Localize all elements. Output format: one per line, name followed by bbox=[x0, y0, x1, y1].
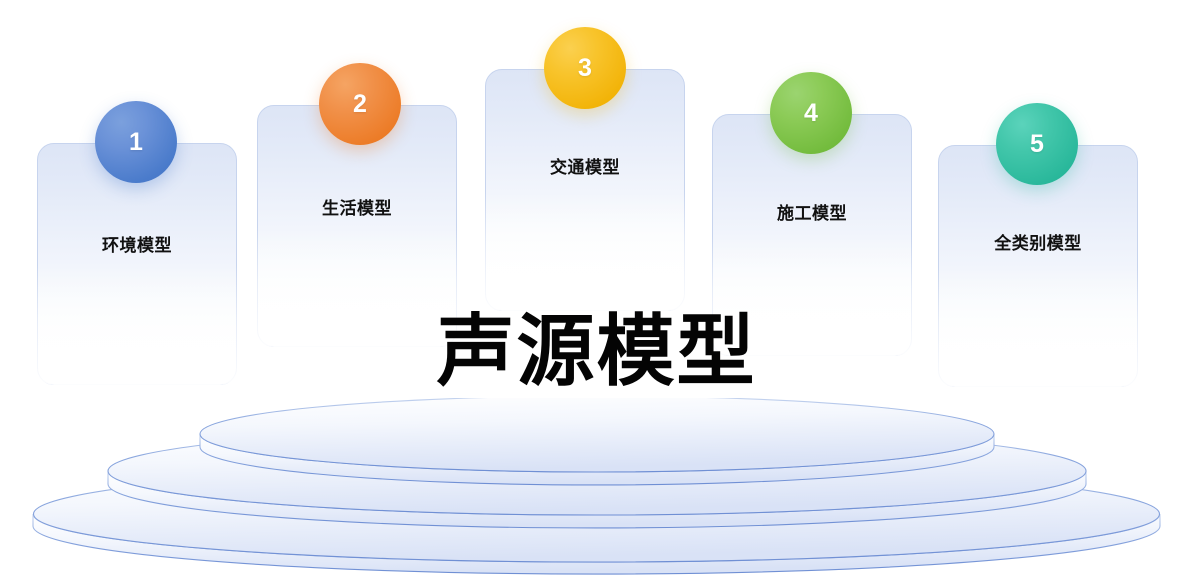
pedestal-tier-bottom bbox=[33, 466, 1160, 574]
pedestal-tier-top bbox=[200, 398, 994, 485]
card-3-label: 交通模型 bbox=[486, 153, 684, 178]
card-3-number: 3 bbox=[578, 56, 592, 81]
pedestal-graphic bbox=[0, 398, 1193, 578]
card-2-label: 生活模型 bbox=[258, 194, 456, 219]
card-3-number-badge[interactable]: 3 bbox=[544, 27, 626, 109]
card-4-label: 施工模型 bbox=[713, 199, 911, 224]
card-1-label: 环境模型 bbox=[38, 231, 236, 256]
card-5-label: 全类别模型 bbox=[939, 229, 1137, 254]
card-1-number-badge[interactable]: 1 bbox=[95, 101, 177, 183]
card-5-number: 5 bbox=[1030, 132, 1044, 157]
card-1-number: 1 bbox=[129, 130, 143, 155]
card-4-number: 4 bbox=[804, 101, 818, 126]
pedestal-tier-middle bbox=[108, 427, 1086, 528]
slide-canvas: 环境模型 1 生活模型 2 交通模型 3 施工模型 4 全类别模型 5 声源模型 bbox=[0, 0, 1193, 578]
page-title: 声源模型 bbox=[0, 312, 1193, 390]
card-5-number-badge[interactable]: 5 bbox=[996, 103, 1078, 185]
card-2-number-badge[interactable]: 2 bbox=[319, 63, 401, 145]
card-2-number: 2 bbox=[353, 92, 367, 117]
card-4-number-badge[interactable]: 4 bbox=[770, 72, 852, 154]
